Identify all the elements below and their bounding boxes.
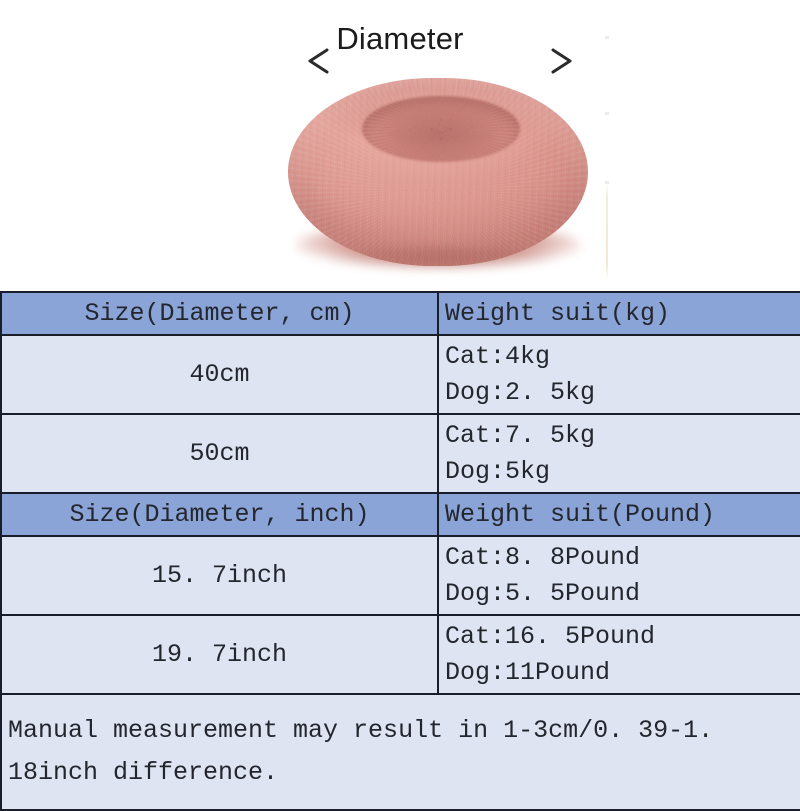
bed-base-shading [328,246,558,272]
weight-line-cat: Cat:7. 5kg [445,418,800,454]
weight-line-dog: Dog:5kg [445,454,800,490]
image-artifact-speck [605,181,609,184]
product-image-alt: pink-fluffy-donut-pet-bed [0,0,1,1]
measurement-note-cell: Manual measurement may result in 1-3cm/0… [1,694,800,810]
measurement-note-text: Manual measurement may result in 1-3cm/0… [8,710,792,794]
table-row: 40cm Cat:4kg Dog:2. 5kg [1,335,800,414]
product-hero: Diameter [0,0,800,291]
table-row: 15. 7inch Cat:8. 8Pound Dog:5. 5Pound [1,536,800,615]
cell-weight-value: Cat:8. 8Pound Dog:5. 5Pound [438,536,800,615]
cell-size-value: 40cm [1,335,438,414]
header-cell-weight-kg: Weight suit(kg) [438,292,800,335]
bed-inner-cavity-fur [362,96,520,162]
header-cell-size-inch: Size(Diameter, inch) [1,493,438,536]
size-chart-page: Diameter [0,0,800,800]
image-artifact-speck [605,36,609,39]
weight-line-dog: Dog:5. 5Pound [445,576,800,612]
cell-size-value: 19. 7inch [1,615,438,694]
header-cell-weight-pound: Weight suit(Pound) [438,493,800,536]
cell-size-value: 15. 7inch [1,536,438,615]
pet-bed-product-image [283,72,593,272]
bed-outer-ring [288,78,588,266]
cell-weight-value: Cat:16. 5Pound Dog:11Pound [438,615,800,694]
weight-line-cat: Cat:16. 5Pound [445,619,800,655]
weight-line-cat: Cat:4kg [445,339,800,375]
cell-weight-value: Cat:7. 5kg Dog:5kg [438,414,800,493]
cell-size-value: 50cm [1,414,438,493]
weight-line-cat: Cat:8. 8Pound [445,540,800,576]
image-artifact-streak [606,183,608,279]
size-weight-table: Size(Diameter, cm) Weight suit(kg) 40cm … [0,291,800,811]
table-row: 50cm Cat:7. 5kg Dog:5kg [1,414,800,493]
cell-weight-value: Cat:4kg Dog:2. 5kg [438,335,800,414]
table-note-row: Manual measurement may result in 1-3cm/0… [1,694,800,810]
weight-line-dog: Dog:2. 5kg [445,375,800,411]
table-row: 19. 7inch Cat:16. 5Pound Dog:11Pound [1,615,800,694]
table-header-row-imperial: Size(Diameter, inch) Weight suit(Pound) [1,493,800,536]
weight-line-dog: Dog:11Pound [445,655,800,691]
table-header-row-metric: Size(Diameter, cm) Weight suit(kg) [1,292,800,335]
image-artifact-speck [605,112,609,115]
header-cell-size-cm: Size(Diameter, cm) [1,292,438,335]
